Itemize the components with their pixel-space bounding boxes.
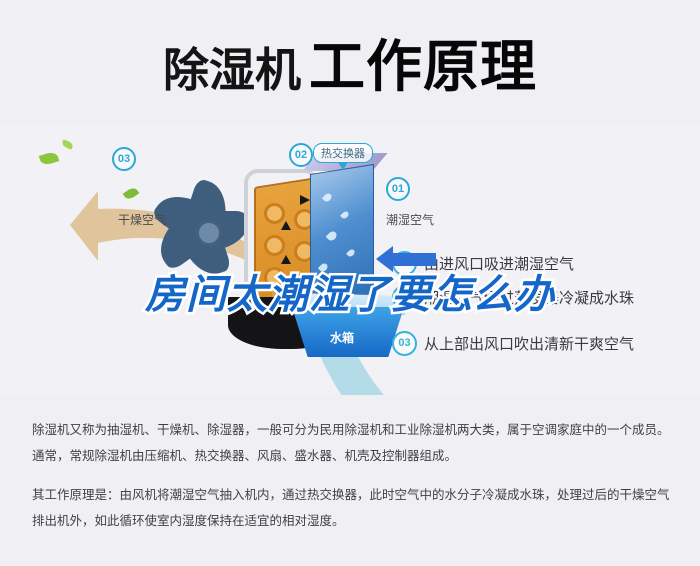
dry-air-label: 干燥空气 bbox=[118, 211, 166, 228]
body-paragraph-1: 除湿机又称为抽湿机、干燥机、除湿器，一般可分为民用除湿机和工业除湿机两大类，属于… bbox=[32, 418, 672, 469]
diagram-chip-03: 03 bbox=[112, 147, 136, 171]
humid-air-label: 潮湿空气 bbox=[386, 211, 434, 228]
diagram-chip-01: 01 bbox=[386, 177, 410, 201]
overlay-headline: 房间太潮湿了要怎么办 bbox=[0, 262, 700, 320]
coil-tube bbox=[264, 235, 285, 256]
fan-hub bbox=[196, 220, 222, 246]
step-label: 从上部出风口吹出清新干爽空气 bbox=[424, 333, 634, 354]
flow-arrow-up-icon bbox=[281, 221, 291, 230]
heat-exchanger-callout: 热交换器 bbox=[313, 143, 373, 163]
diagram-chip-02: 02 bbox=[289, 143, 313, 167]
water-tank-label: 水箱 bbox=[330, 329, 354, 346]
body-paragraph-2: 其工作原理是：由风机将潮湿空气抽入机内，通过热交换器，此时空气中的水分子冷凝成水… bbox=[32, 483, 672, 534]
page-title-part2: 工作原理 bbox=[309, 35, 537, 98]
overlay-headline-text: 房间太潮湿了要怎么办 bbox=[145, 262, 555, 320]
page-title: 除湿机工作原理 bbox=[0, 22, 700, 103]
list-item: 03 从上部出风口吹出清新干爽空气 bbox=[392, 326, 692, 360]
flow-arrow-right-icon bbox=[300, 195, 310, 205]
page-title-part1: 除湿机 bbox=[163, 44, 301, 96]
body-copy: 除湿机又称为抽湿机、干燥机、除湿器，一般可分为民用除湿机和工业除湿机两大类，属于… bbox=[32, 418, 672, 549]
infographic-page: 除湿机工作原理 bbox=[0, 0, 700, 566]
step-number: 03 bbox=[392, 331, 417, 356]
